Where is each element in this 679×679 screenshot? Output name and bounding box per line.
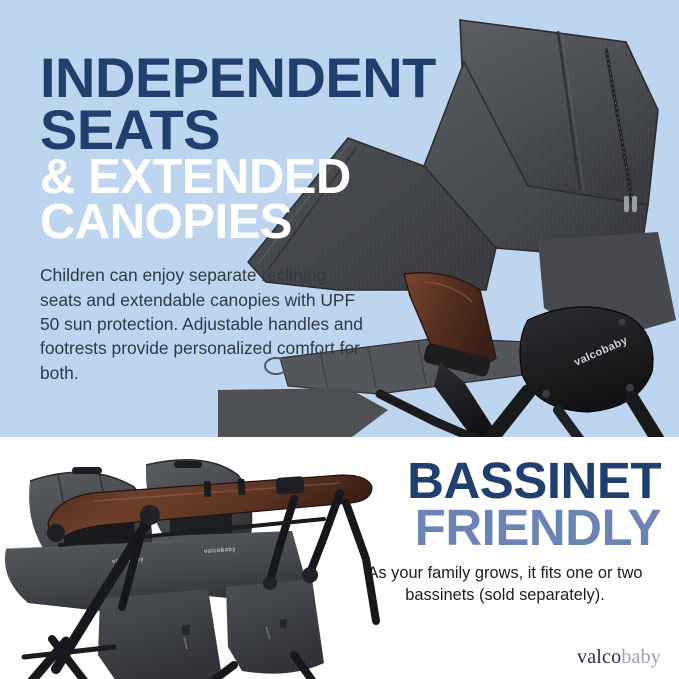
bassinet-illustration: valcobaby xyxy=(0,441,404,679)
infographic-sheet: valcobaby INDEPENDENT SEATS & xyxy=(0,0,679,679)
top-panel-copy: INDEPENDENT SEATS & EXTENDED CANOPIES Ch… xyxy=(40,52,460,385)
front-seat-fabric xyxy=(218,388,388,437)
bottom-panel: valcobaby xyxy=(0,437,679,679)
top-panel: valcobaby INDEPENDENT SEATS & xyxy=(0,0,679,437)
top-headline-line4: CANOPIES xyxy=(40,200,460,245)
logo-baby-text: baby xyxy=(621,646,661,668)
bottom-product-image: valcobaby xyxy=(0,441,404,679)
top-body-text: Children can enjoy separate reclining se… xyxy=(40,263,370,385)
bottom-headline-line2: FRIENDLY xyxy=(349,504,661,551)
top-headline-line2: SEATS xyxy=(40,104,460,156)
valcobaby-logo: valcobaby xyxy=(577,646,661,669)
bottom-body-text: As your family grows, it fits one or two… xyxy=(349,563,661,606)
top-headline-line1: INDEPENDENT xyxy=(40,52,460,104)
bottom-headline-line1: BASSINET xyxy=(349,457,661,504)
bottom-panel-copy: BASSINET FRIENDLY As your family grows, … xyxy=(349,457,661,606)
logo-valco-text: valco xyxy=(577,646,621,668)
top-headline-line3: & EXTENDED xyxy=(40,155,460,200)
